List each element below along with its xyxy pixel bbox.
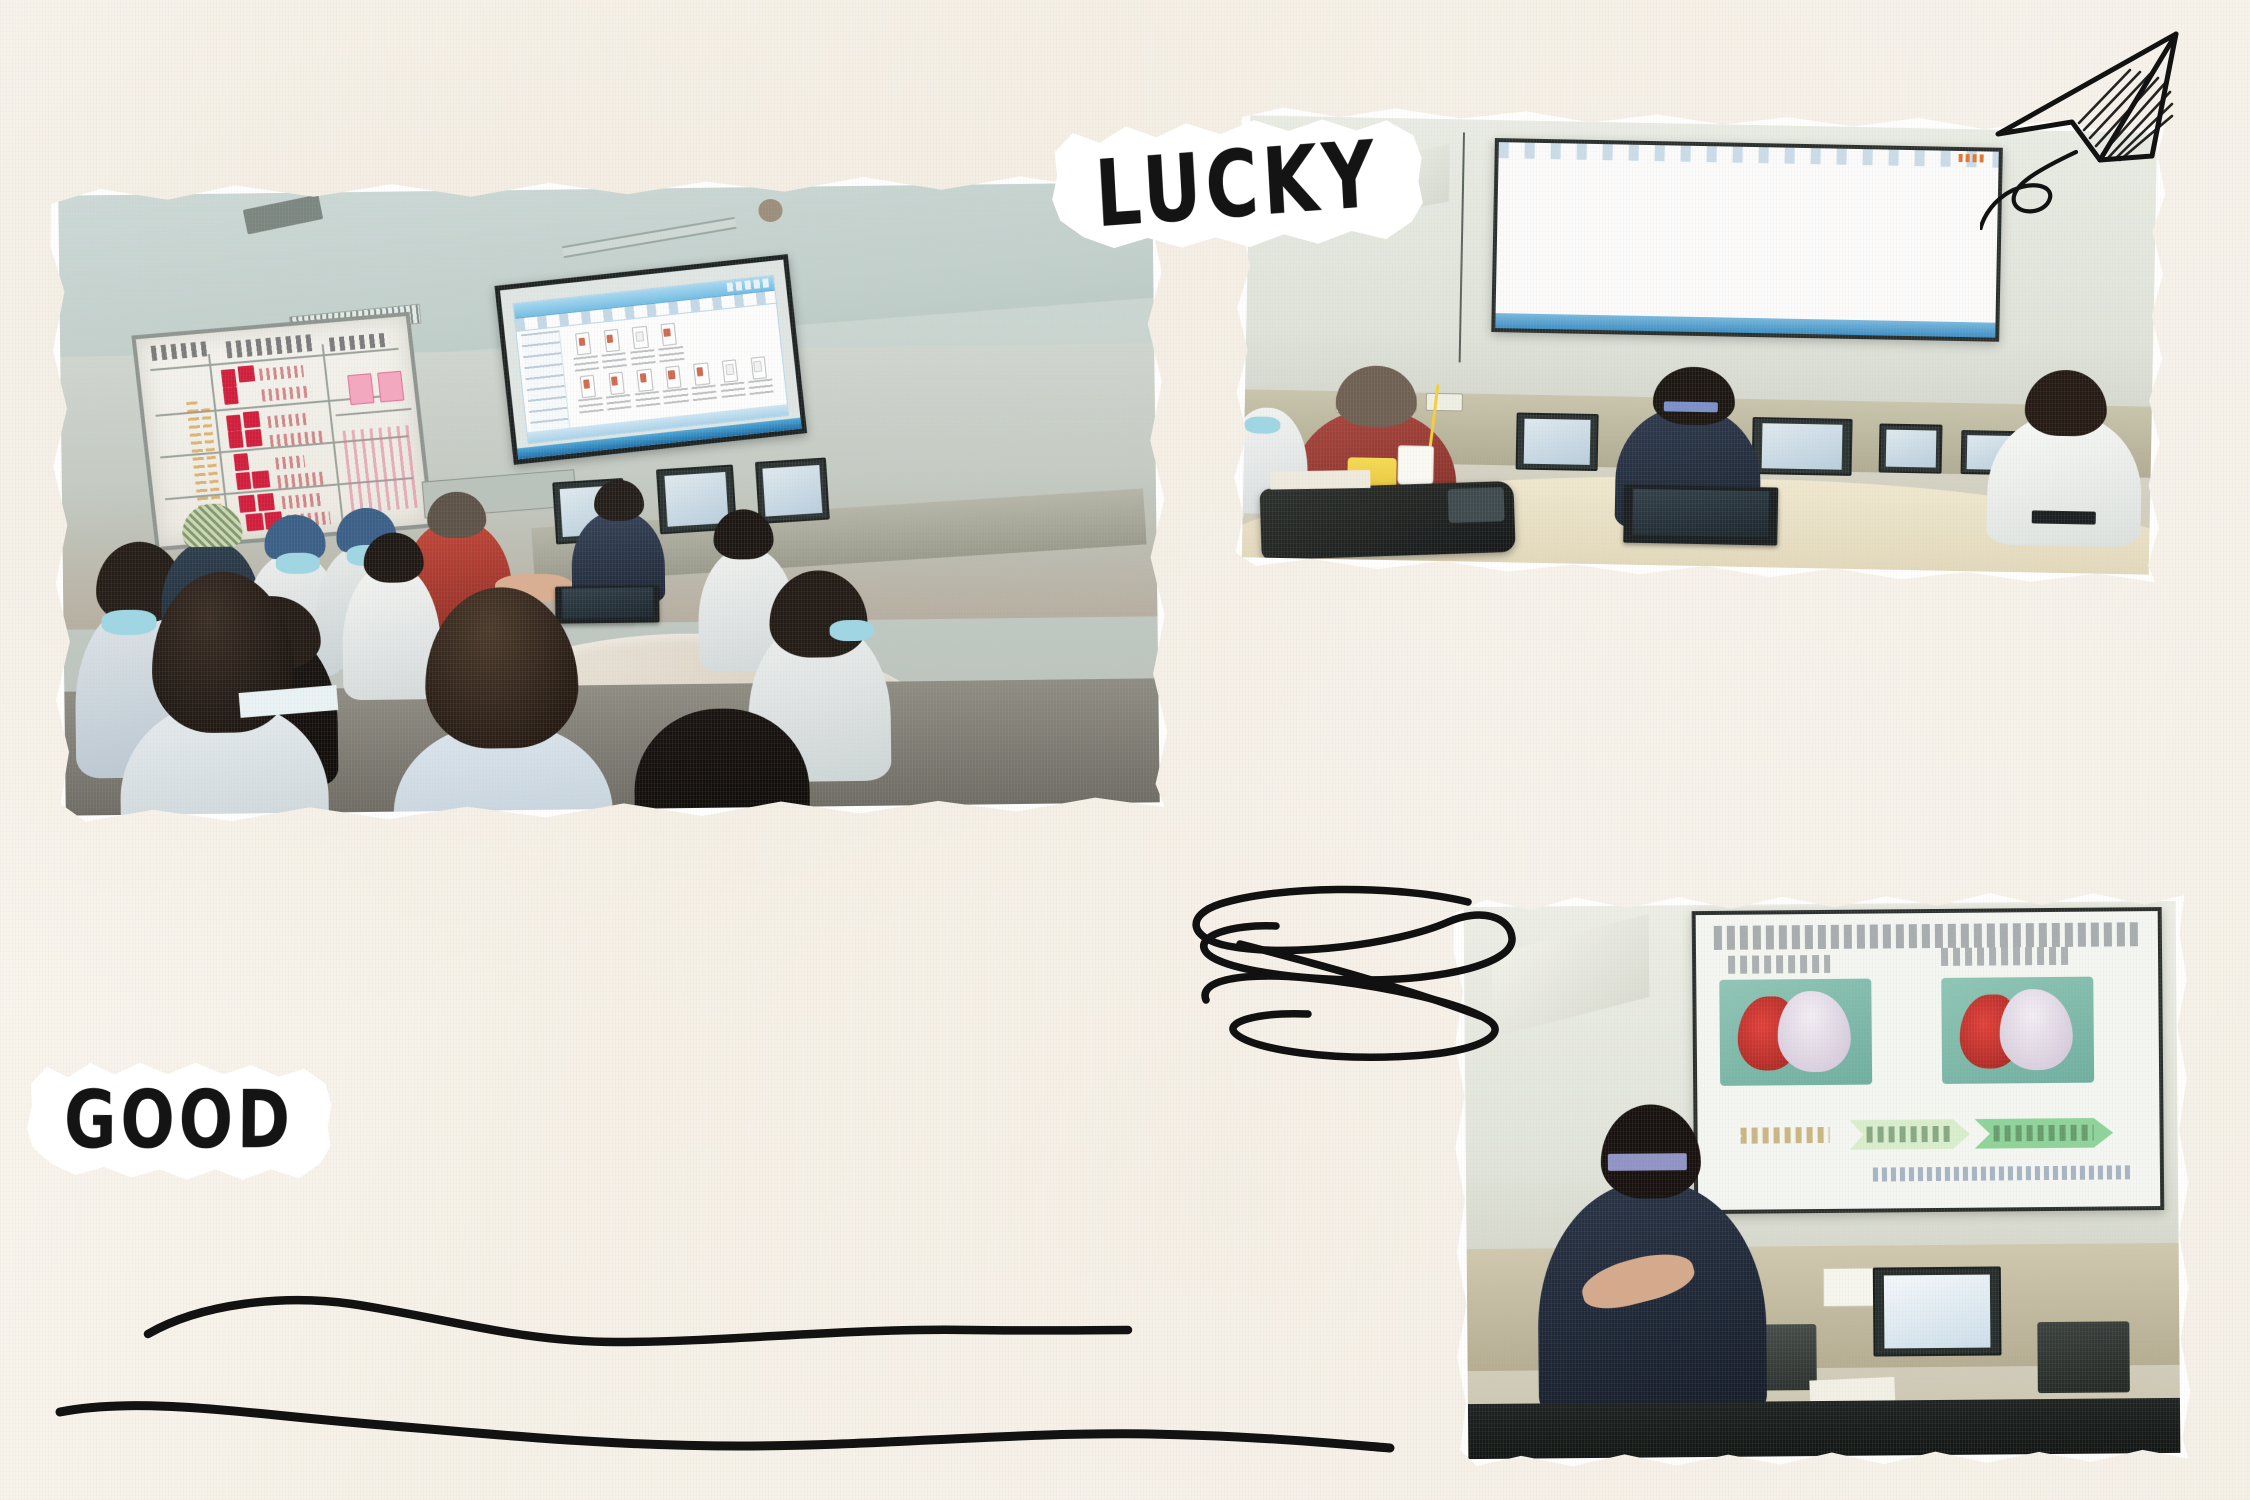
laptop-bag bbox=[1260, 481, 1516, 560]
sticker-lucky[interactable]: LUCKY bbox=[1046, 113, 1428, 256]
room2-window-controls-icon bbox=[1958, 154, 1983, 162]
slide-label-left bbox=[1728, 955, 1830, 974]
projection-screen bbox=[495, 254, 808, 465]
room2-projection-screen bbox=[1491, 138, 2003, 342]
paper-cup bbox=[1397, 445, 1434, 485]
face-mask-2 bbox=[276, 552, 320, 574]
copd-slide bbox=[1691, 907, 2164, 1215]
presenter-glasses-icon bbox=[1608, 1154, 1686, 1171]
ward-whiteboard bbox=[131, 312, 434, 551]
slide-footer bbox=[1873, 1165, 2132, 1182]
lung-diagram-left bbox=[1719, 978, 1872, 1086]
room2-phone bbox=[2032, 511, 2096, 525]
wall-outlet-3-icon bbox=[1426, 393, 1463, 411]
ceiling-speaker-icon bbox=[759, 199, 783, 222]
face-mask-4 bbox=[829, 620, 873, 642]
collage-canvas: LUCKY GOOD bbox=[0, 0, 2250, 1500]
laptop-open bbox=[555, 585, 659, 623]
photo-bottom-right-lecture[interactable] bbox=[1449, 887, 2194, 1473]
room2-monitor-1 bbox=[1516, 412, 1599, 471]
photo-main-meeting[interactable] bbox=[44, 168, 1174, 830]
glasses-icon bbox=[1664, 402, 1719, 413]
printer-2-icon bbox=[2037, 1321, 2130, 1394]
room3-monitor bbox=[1873, 1267, 2002, 1356]
room2-window-titlebar bbox=[1498, 142, 1998, 168]
room2-face-mask bbox=[1244, 416, 1281, 434]
file-grid bbox=[567, 308, 778, 417]
monitor-3 bbox=[755, 457, 830, 523]
person-navy-head bbox=[593, 480, 644, 522]
room2-notebook bbox=[1270, 470, 1370, 489]
photo-bottom-right-content bbox=[1464, 901, 2181, 1459]
lung-diagram-right bbox=[1941, 976, 2094, 1084]
slide-title bbox=[1714, 923, 2139, 950]
photo-main-content bbox=[58, 182, 1159, 815]
explorer-sidebar bbox=[521, 329, 571, 434]
sticker-lucky-label: LUCKY bbox=[1093, 128, 1382, 241]
room2-monitor-2 bbox=[1751, 417, 1852, 476]
wavy-underline-doodle bbox=[50, 1250, 1410, 1460]
sticker-good-label: GOOD bbox=[64, 1081, 294, 1161]
face-mask-1 bbox=[102, 610, 157, 635]
room2-monitor-3 bbox=[1878, 424, 1942, 474]
room2-laptop bbox=[1623, 485, 1778, 545]
flow-step-2 bbox=[1850, 1119, 1970, 1150]
slide-label-right bbox=[1941, 947, 2070, 966]
sticker-good[interactable]: GOOD bbox=[23, 1057, 335, 1185]
file-explorer-window bbox=[513, 274, 789, 444]
podium-desk bbox=[1468, 1398, 2180, 1459]
flow-step-1 bbox=[1730, 1120, 1841, 1151]
flow-step-3 bbox=[1974, 1118, 2113, 1149]
